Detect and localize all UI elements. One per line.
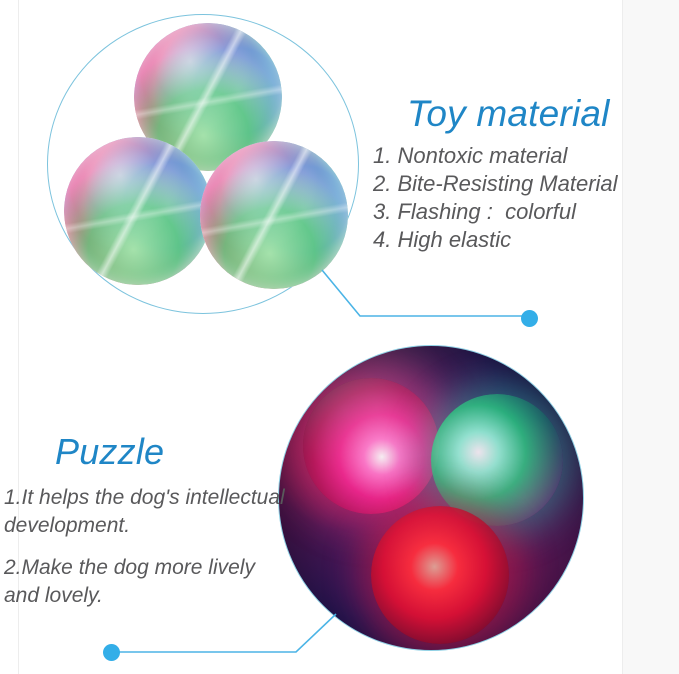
glow-ball-pink (303, 378, 439, 514)
infographic-canvas: Toy material 1. Nontoxic material 2. Bit… (0, 0, 679, 674)
list-item: 2.Make the dog more lively and lovely. (0, 554, 286, 610)
glow-ball-red (371, 506, 509, 644)
list-item: 4. High elastic (373, 226, 673, 254)
toy-material-list: 1. Nontoxic material 2. Bite-Resisting M… (373, 142, 673, 254)
puzzle-heading: Puzzle (55, 430, 286, 474)
ball-right (200, 141, 348, 289)
toy-material-heading: Toy material (407, 92, 673, 136)
toy-material-section: Toy material 1. Nontoxic material 2. Bit… (373, 92, 673, 254)
puzzle-list: 1.It helps the dog's intellectual develo… (0, 484, 286, 610)
top-connector-dot (521, 310, 538, 327)
puzzle-section: Puzzle 1.It helps the dog's intellectual… (0, 430, 286, 624)
list-item: 1. Nontoxic material (373, 142, 673, 170)
top-product-photo-circle (47, 14, 359, 314)
list-item: 1.It helps the dog's intellectual develo… (0, 484, 286, 540)
list-item: 2. Bite-Resisting Material (373, 170, 673, 198)
ball-left (64, 137, 212, 285)
bottom-connector-dot (103, 644, 120, 661)
list-item: 3. Flashing : colorful (373, 198, 673, 226)
top-connector-line (320, 268, 550, 338)
